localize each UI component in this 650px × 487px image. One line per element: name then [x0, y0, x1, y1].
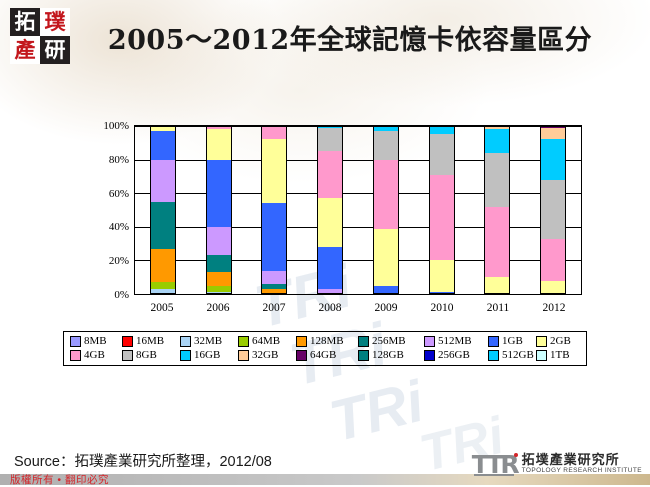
tri-mark: TTR — [472, 452, 517, 477]
y-axis-tick-label: 100% — [103, 120, 129, 132]
legend-label: 128GB — [372, 349, 404, 361]
bar-segment-2gb[interactable] — [206, 129, 232, 159]
legend-item-16mb[interactable]: 16MB — [122, 335, 180, 347]
bar-segment-128mb[interactable] — [261, 289, 287, 294]
bar-segment-32mb[interactable] — [206, 292, 232, 294]
bar-segment-1gb[interactable] — [261, 203, 287, 270]
x-axis-tick-label: 2006 — [190, 302, 246, 314]
y-axis-tick-label: 20% — [109, 255, 129, 267]
bar-segment-512mb[interactable] — [261, 271, 287, 284]
logo-char-1: 拓 — [10, 8, 40, 36]
y-axis-tick-label: 40% — [109, 221, 129, 233]
legend-swatch-32mb — [180, 336, 191, 347]
legend-item-8gb[interactable]: 8GB — [122, 349, 180, 361]
bar-segment-64mb[interactable] — [206, 286, 232, 293]
legend-label: 1GB — [502, 335, 523, 347]
legend-item-128gb[interactable]: 128GB — [358, 349, 424, 361]
logo-char-2: 璞 — [40, 8, 70, 36]
legend-item-64gb[interactable]: 64GB — [296, 349, 358, 361]
x-axis-tick-label: 2010 — [414, 302, 470, 314]
legend-swatch-128gb — [358, 350, 369, 361]
bar-series-container — [135, 126, 581, 294]
bar-segment-4gb[interactable] — [261, 126, 287, 139]
legend-label: 8MB — [84, 335, 107, 347]
legend-swatch-8gb — [122, 350, 133, 361]
bar-segment-512mb[interactable] — [150, 160, 176, 202]
legend-item-4gb[interactable]: 4GB — [70, 349, 122, 361]
bar-column — [525, 126, 581, 294]
legend-item-2gb[interactable]: 2GB — [536, 335, 580, 347]
legend-label: 1TB — [550, 349, 570, 361]
stacked-bar[interactable] — [540, 126, 566, 294]
x-axis-tick-label: 2005 — [134, 302, 190, 314]
legend-label: 16GB — [194, 349, 220, 361]
y-axis-tick-label: 80% — [109, 154, 129, 166]
legend-swatch-64mb — [238, 336, 249, 347]
chart-legend: 8MB16MB32MB64MB128MB256MB512MB1GB2GB 4GB… — [63, 331, 587, 366]
tri-brand-en: TOPOLOGY RESEARCH INSTITUTE — [522, 468, 642, 475]
bar-column — [414, 126, 470, 294]
legend-item-16gb[interactable]: 16GB — [180, 349, 238, 361]
bar-segment-8gb[interactable] — [540, 180, 566, 239]
plot-area: 0%20%40%60%80%100% — [134, 125, 582, 295]
legend-item-512mb[interactable]: 512MB — [424, 335, 488, 347]
legend-label: 32MB — [194, 335, 222, 347]
bar-segment-4gb[interactable] — [540, 239, 566, 281]
bar-segment-4gb[interactable] — [317, 151, 343, 198]
legend-item-512gb[interactable]: 512GB — [488, 349, 536, 361]
page-title: 2005～2012年全球記憶卡依容量區分 — [90, 18, 610, 57]
legend-label: 2GB — [550, 335, 571, 347]
y-axis-tick-label: 0% — [114, 289, 129, 301]
bar-segment-128mb[interactable] — [206, 272, 232, 285]
bar-segment-512mb[interactable] — [317, 289, 343, 294]
legend-swatch-512mb — [424, 336, 435, 347]
bar-segment-2gb[interactable] — [261, 139, 287, 203]
x-axis-tick-label: 2011 — [470, 302, 526, 314]
legend-item-1tb[interactable]: 1TB — [536, 349, 580, 361]
x-axis-labels: 20052006200720082009201020112012 — [134, 302, 582, 314]
bar-segment-2gb[interactable] — [373, 229, 399, 286]
legend-swatch-16mb — [122, 336, 133, 347]
bar-column — [470, 126, 526, 294]
source-note: Source：拓璞產業研究所整理，2012/08 — [14, 450, 272, 471]
legend-label: 16MB — [136, 335, 164, 347]
legend-label: 128MB — [310, 335, 344, 347]
legend-label: 32GB — [252, 349, 278, 361]
x-axis-tick-label: 2007 — [246, 302, 302, 314]
stacked-bar[interactable] — [150, 126, 176, 294]
bar-segment-2gb[interactable] — [540, 281, 566, 294]
legend-item-64mb[interactable]: 64MB — [238, 335, 296, 347]
legend-swatch-2gb — [536, 336, 547, 347]
legend-item-8mb[interactable]: 8MB — [70, 335, 122, 347]
legend-item-1gb[interactable]: 1GB — [488, 335, 536, 347]
legend-swatch-4gb — [70, 350, 81, 361]
legend-item-128mb[interactable]: 128MB — [296, 335, 358, 347]
bar-segment-8gb[interactable] — [429, 134, 455, 174]
legend-item-256gb[interactable]: 256GB — [424, 349, 488, 361]
bar-segment-32mb[interactable] — [150, 289, 176, 294]
bar-segment-1gb[interactable] — [429, 292, 455, 294]
legend-label: 512GB — [502, 349, 534, 361]
tri-brand-text: 拓墣產業研究所 TOPOLOGY RESEARCH INSTITUTE — [522, 454, 642, 474]
x-axis-tick-label: 2008 — [302, 302, 358, 314]
bar-segment-16gb[interactable] — [429, 126, 455, 134]
legend-swatch-256mb — [358, 336, 369, 347]
bar-segment-1gb[interactable] — [373, 286, 399, 294]
legend-swatch-128mb — [296, 336, 307, 347]
bar-segment-2gb[interactable] — [484, 277, 510, 294]
watermark-text: TRi — [323, 368, 430, 456]
bar-segment-256mb[interactable] — [150, 202, 176, 249]
bar-segment-8gb[interactable] — [373, 131, 399, 160]
stacked-bar[interactable] — [373, 126, 399, 294]
bar-segment-8gb[interactable] — [317, 128, 343, 152]
bar-column — [135, 126, 191, 294]
legend-label: 64MB — [252, 335, 280, 347]
tri-brand-cn: 拓墣產業研究所 — [522, 454, 642, 468]
legend-label: 512MB — [438, 335, 472, 347]
tri-dot-icon — [514, 453, 518, 457]
tri-brand-logo: TTR 拓墣產業研究所 TOPOLOGY RESEARCH INSTITUTE — [472, 452, 642, 477]
x-axis-tick-label: 2009 — [358, 302, 414, 314]
bar-segment-1gb[interactable] — [317, 247, 343, 289]
stacked-bar[interactable] — [317, 126, 343, 294]
bar-segment-4gb[interactable] — [484, 207, 510, 278]
bar-segment-16gb[interactable] — [540, 139, 566, 179]
bar-segment-4gb[interactable] — [373, 160, 399, 229]
legend-swatch-16gb — [180, 350, 191, 361]
legend-swatch-32gb — [238, 350, 249, 361]
legend-label: 4GB — [84, 349, 105, 361]
legend-swatch-1tb — [536, 350, 547, 361]
legend-label: 8GB — [136, 349, 157, 361]
logo-char-3: 產 — [10, 36, 40, 64]
bar-column — [358, 126, 414, 294]
stacked-bar[interactable] — [429, 126, 455, 294]
company-logo: 拓 璞 產 研 — [10, 8, 70, 64]
gridline: 0% — [135, 294, 581, 295]
bar-segment-128mb[interactable] — [150, 249, 176, 283]
legend-label: 256GB — [438, 349, 470, 361]
legend-swatch-8mb — [70, 336, 81, 347]
bar-segment-1gb[interactable] — [206, 160, 232, 227]
logo-char-4: 研 — [40, 36, 70, 64]
stacked-bar[interactable] — [261, 126, 287, 294]
bar-segment-16gb[interactable] — [484, 129, 510, 153]
legend-row: 8MB16MB32MB64MB128MB256MB512MB1GB2GB — [70, 335, 582, 347]
legend-swatch-64gb — [296, 350, 307, 361]
bar-segment-4gb[interactable] — [429, 175, 455, 261]
stacked-bar[interactable] — [206, 126, 232, 294]
bar-segment-8gb[interactable] — [484, 153, 510, 207]
bar-segment-2gb[interactable] — [429, 260, 455, 292]
bar-segment-1gb[interactable] — [150, 131, 176, 160]
bar-segment-32gb[interactable] — [540, 128, 566, 140]
bar-column — [302, 126, 358, 294]
legend-swatch-512gb — [488, 350, 499, 361]
tri-underline — [474, 474, 514, 476]
legend-label: 256MB — [372, 335, 406, 347]
legend-item-32gb[interactable]: 32GB — [238, 349, 296, 361]
y-axis-tick-label: 60% — [109, 188, 129, 200]
stacked-bar-chart: 0%20%40%60%80%100% 200520062007200820092… — [76, 120, 588, 295]
legend-item-256mb[interactable]: 256MB — [358, 335, 424, 347]
bar-column — [247, 126, 303, 294]
bar-segment-2gb[interactable] — [317, 198, 343, 247]
legend-item-32mb[interactable]: 32MB — [180, 335, 238, 347]
bar-segment-64mb[interactable] — [150, 282, 176, 289]
legend-swatch-256gb — [424, 350, 435, 361]
bar-segment-256mb[interactable] — [206, 255, 232, 272]
x-axis-tick-label: 2012 — [526, 302, 582, 314]
bar-column — [191, 126, 247, 294]
legend-row: 4GB8GB16GB32GB64GB128GB256GB512GB1TB — [70, 349, 582, 361]
bar-segment-512mb[interactable] — [206, 227, 232, 256]
legend-label: 64GB — [310, 349, 336, 361]
legend-swatch-1gb — [488, 336, 499, 347]
stacked-bar[interactable] — [484, 126, 510, 294]
